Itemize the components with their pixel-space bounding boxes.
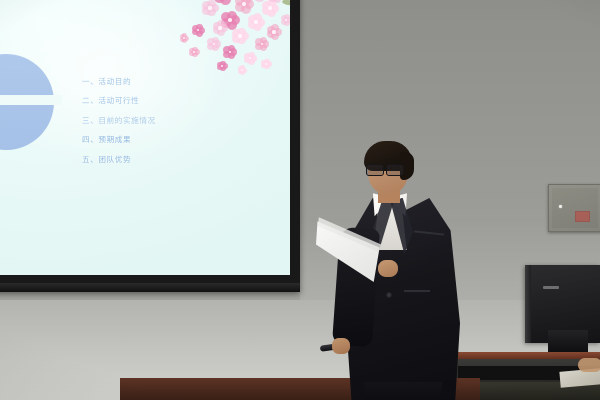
monitor-stand <box>548 330 588 352</box>
projection-screen: 一、活动目的 二、活动可行性 三、目前的实施情况 四、预期成果 五、团队优势 <box>0 0 290 275</box>
slide-agenda-item-1: 一、活动目的 <box>82 76 272 87</box>
trousers <box>358 382 448 400</box>
flower-center <box>208 6 211 9</box>
jacket-pocket <box>404 290 430 292</box>
slide-flower-decoration <box>170 0 290 88</box>
presentation-slide: 一、活动目的 二、活动可行性 三、目前的实施情况 四、预期成果 五、团队优势 <box>0 0 290 275</box>
slide-agenda-item-3: 三、目前的实施情况 <box>82 115 272 126</box>
flower-center <box>272 30 275 33</box>
glasses-icon <box>366 164 408 174</box>
glasses-lens-right <box>386 164 404 176</box>
monitor-bezel <box>525 265 531 343</box>
assistant-hand <box>578 358 600 372</box>
flower-center <box>228 18 232 22</box>
left-hand <box>332 338 350 354</box>
slide-agenda-item-5: 五、团队优势 <box>82 154 272 165</box>
classroom-presentation-photo: 一、活动目的 二、活动可行性 三、目前的实施情况 四、预期成果 五、团队优势 <box>0 0 600 400</box>
presenter <box>318 142 486 400</box>
flower-center <box>183 37 185 39</box>
flower-center <box>242 2 246 6</box>
right-hand <box>378 260 398 277</box>
jacket-button <box>386 292 392 298</box>
lenovo-logo-icon <box>543 286 559 289</box>
panel-screw-icon <box>559 205 562 208</box>
flower-leaf <box>282 0 290 6</box>
flower-center <box>268 6 272 10</box>
wall-control-panel[interactable] <box>548 184 600 232</box>
slide-agenda-item-4: 四、预期成果 <box>82 134 272 145</box>
panel-warning-label <box>575 211 590 222</box>
flower-center <box>218 26 221 29</box>
flower-center <box>254 20 258 24</box>
flower-center <box>241 69 243 71</box>
slide-circle-band <box>0 95 62 105</box>
glasses-lens-left <box>366 164 384 176</box>
projection-screen-frame: 一、活动目的 二、活动可行性 三、目前的实施情况 四、预期成果 五、团队优势 <box>0 0 300 292</box>
slide-agenda-item-2: 二、活动可行性 <box>82 95 272 106</box>
slide-agenda-list: 一、活动目的 二、活动可行性 三、目前的实施情况 四、预期成果 五、团队优势 <box>82 76 272 173</box>
flower-center <box>238 34 241 37</box>
